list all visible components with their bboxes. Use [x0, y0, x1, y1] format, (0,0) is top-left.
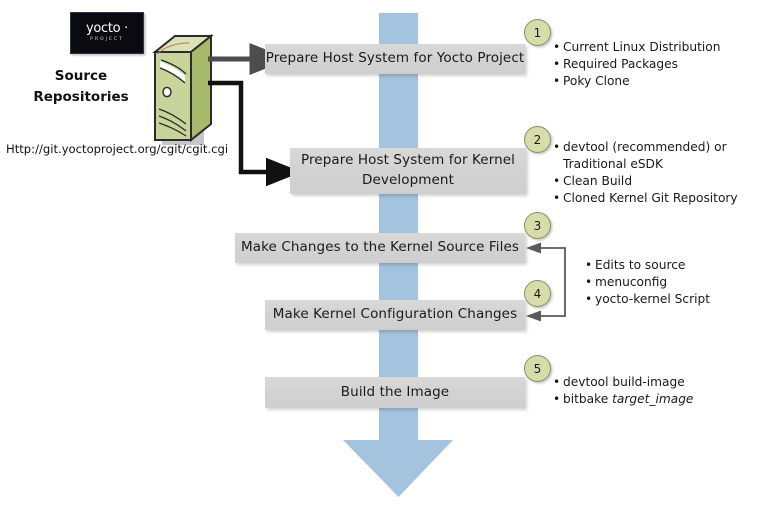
logo-subtitle: PROJECT — [90, 36, 124, 44]
bullet-item: • Poky Clone — [553, 73, 720, 90]
process-box-label: Make Kernel Configuration Changes — [273, 305, 517, 325]
step-number: 1 — [534, 26, 542, 40]
logo-wordmark: yocto · — [86, 22, 128, 35]
step-number-badge-2: 2 — [524, 126, 551, 153]
bullet-item: • yocto-kernel Script — [585, 291, 710, 308]
source-label-line-2: Repositories — [22, 87, 140, 108]
bullet-dot: • — [553, 173, 563, 190]
bullet-text-italic-variable: target_image — [612, 392, 693, 406]
bullet-item: • Clean Build — [553, 173, 738, 190]
bullet-item: • devtool build-image — [553, 374, 693, 391]
diagram-canvas: yocto · PROJECT Source Repositories Http… — [0, 0, 769, 517]
step-number-badge-3: 3 — [524, 212, 551, 239]
process-box-step-1[interactable]: Prepare Host System for Yocto Project — [265, 44, 525, 74]
bullet-text: menuconfig — [595, 274, 667, 291]
source-repositories-label: Source Repositories — [22, 66, 140, 108]
bullet-text-prefix: bitbake — [563, 392, 612, 406]
process-box-label: Prepare Host System for Yocto Project — [266, 49, 525, 69]
server-icon — [125, 30, 225, 145]
step-number: 5 — [534, 362, 542, 376]
bullet-item-continuation: Traditional eSDK — [553, 156, 738, 173]
bullet-dot: • — [585, 274, 595, 291]
bullet-list-step-1: • Current Linux Distribution • Required … — [553, 39, 720, 90]
bullet-dot: • — [553, 139, 563, 156]
process-box-step-3[interactable]: Make Changes to the Kernel Source Files — [235, 233, 525, 263]
bullet-dot: • — [585, 257, 595, 274]
bullet-item: • menuconfig — [585, 274, 710, 291]
bullet-text: Cloned Kernel Git Repository — [563, 190, 738, 207]
step-number-badge-1: 1 — [524, 19, 551, 46]
bullet-dot: • — [553, 374, 563, 391]
bullet-dot: • — [553, 73, 563, 90]
bullet-text: Traditional eSDK — [563, 156, 663, 173]
bullet-item: • Required Packages — [553, 56, 720, 73]
process-box-label: Prepare Host System for Kernel Developme… — [301, 151, 515, 190]
step-number: 3 — [534, 219, 542, 233]
step-number-badge-4: 4 — [524, 280, 551, 307]
bullet-list-steps-3-and-4: • Edits to source • menuconfig • yocto-k… — [585, 257, 710, 308]
bullet-dot: • — [553, 56, 563, 73]
bullet-text: devtool build-image — [563, 374, 685, 391]
step-number: 4 — [534, 287, 542, 301]
bullet-dot: • — [553, 190, 563, 207]
process-box-label-line-2: Development — [362, 172, 454, 188]
bullet-text: Edits to source — [595, 257, 685, 274]
bullet-dot-spacer — [553, 156, 563, 173]
process-box-label: Build the Image — [341, 383, 449, 403]
bullet-item: • Current Linux Distribution — [553, 39, 720, 56]
process-box-label-line-1: Prepare Host System for Kernel — [301, 152, 515, 168]
process-box-step-4[interactable]: Make Kernel Configuration Changes — [265, 300, 525, 330]
bullet-text: yocto-kernel Script — [595, 291, 710, 308]
bullet-dot: • — [585, 291, 595, 308]
bullet-text-composite: bitbake target_image — [563, 391, 693, 408]
bullet-item: • Cloned Kernel Git Repository — [553, 190, 738, 207]
bullet-text: Current Linux Distribution — [563, 39, 720, 56]
bullet-item: • devtool (recommended) or — [553, 139, 738, 156]
bullet-text: Required Packages — [563, 56, 678, 73]
bullet-text: Poky Clone — [563, 73, 630, 90]
bullet-dot: • — [553, 39, 563, 56]
bullet-item: • Edits to source — [585, 257, 710, 274]
bullet-text: Clean Build — [563, 173, 632, 190]
process-box-label: Make Changes to the Kernel Source Files — [241, 238, 519, 258]
bullet-list-step-5: • devtool build-image • bitbake target_i… — [553, 374, 693, 408]
step-number: 2 — [534, 133, 542, 147]
process-box-step-5[interactable]: Build the Image — [265, 377, 525, 408]
bullet-list-step-2: • devtool (recommended) or Traditional e… — [553, 139, 738, 207]
source-label-line-1: Source — [22, 66, 140, 87]
bullet-text: devtool (recommended) or — [563, 139, 727, 156]
bullet-dot: • — [553, 391, 563, 408]
step-number-badge-5: 5 — [524, 355, 551, 382]
bullet-item: • bitbake target_image — [553, 391, 693, 408]
process-box-step-2[interactable]: Prepare Host System for Kernel Developme… — [290, 148, 526, 194]
